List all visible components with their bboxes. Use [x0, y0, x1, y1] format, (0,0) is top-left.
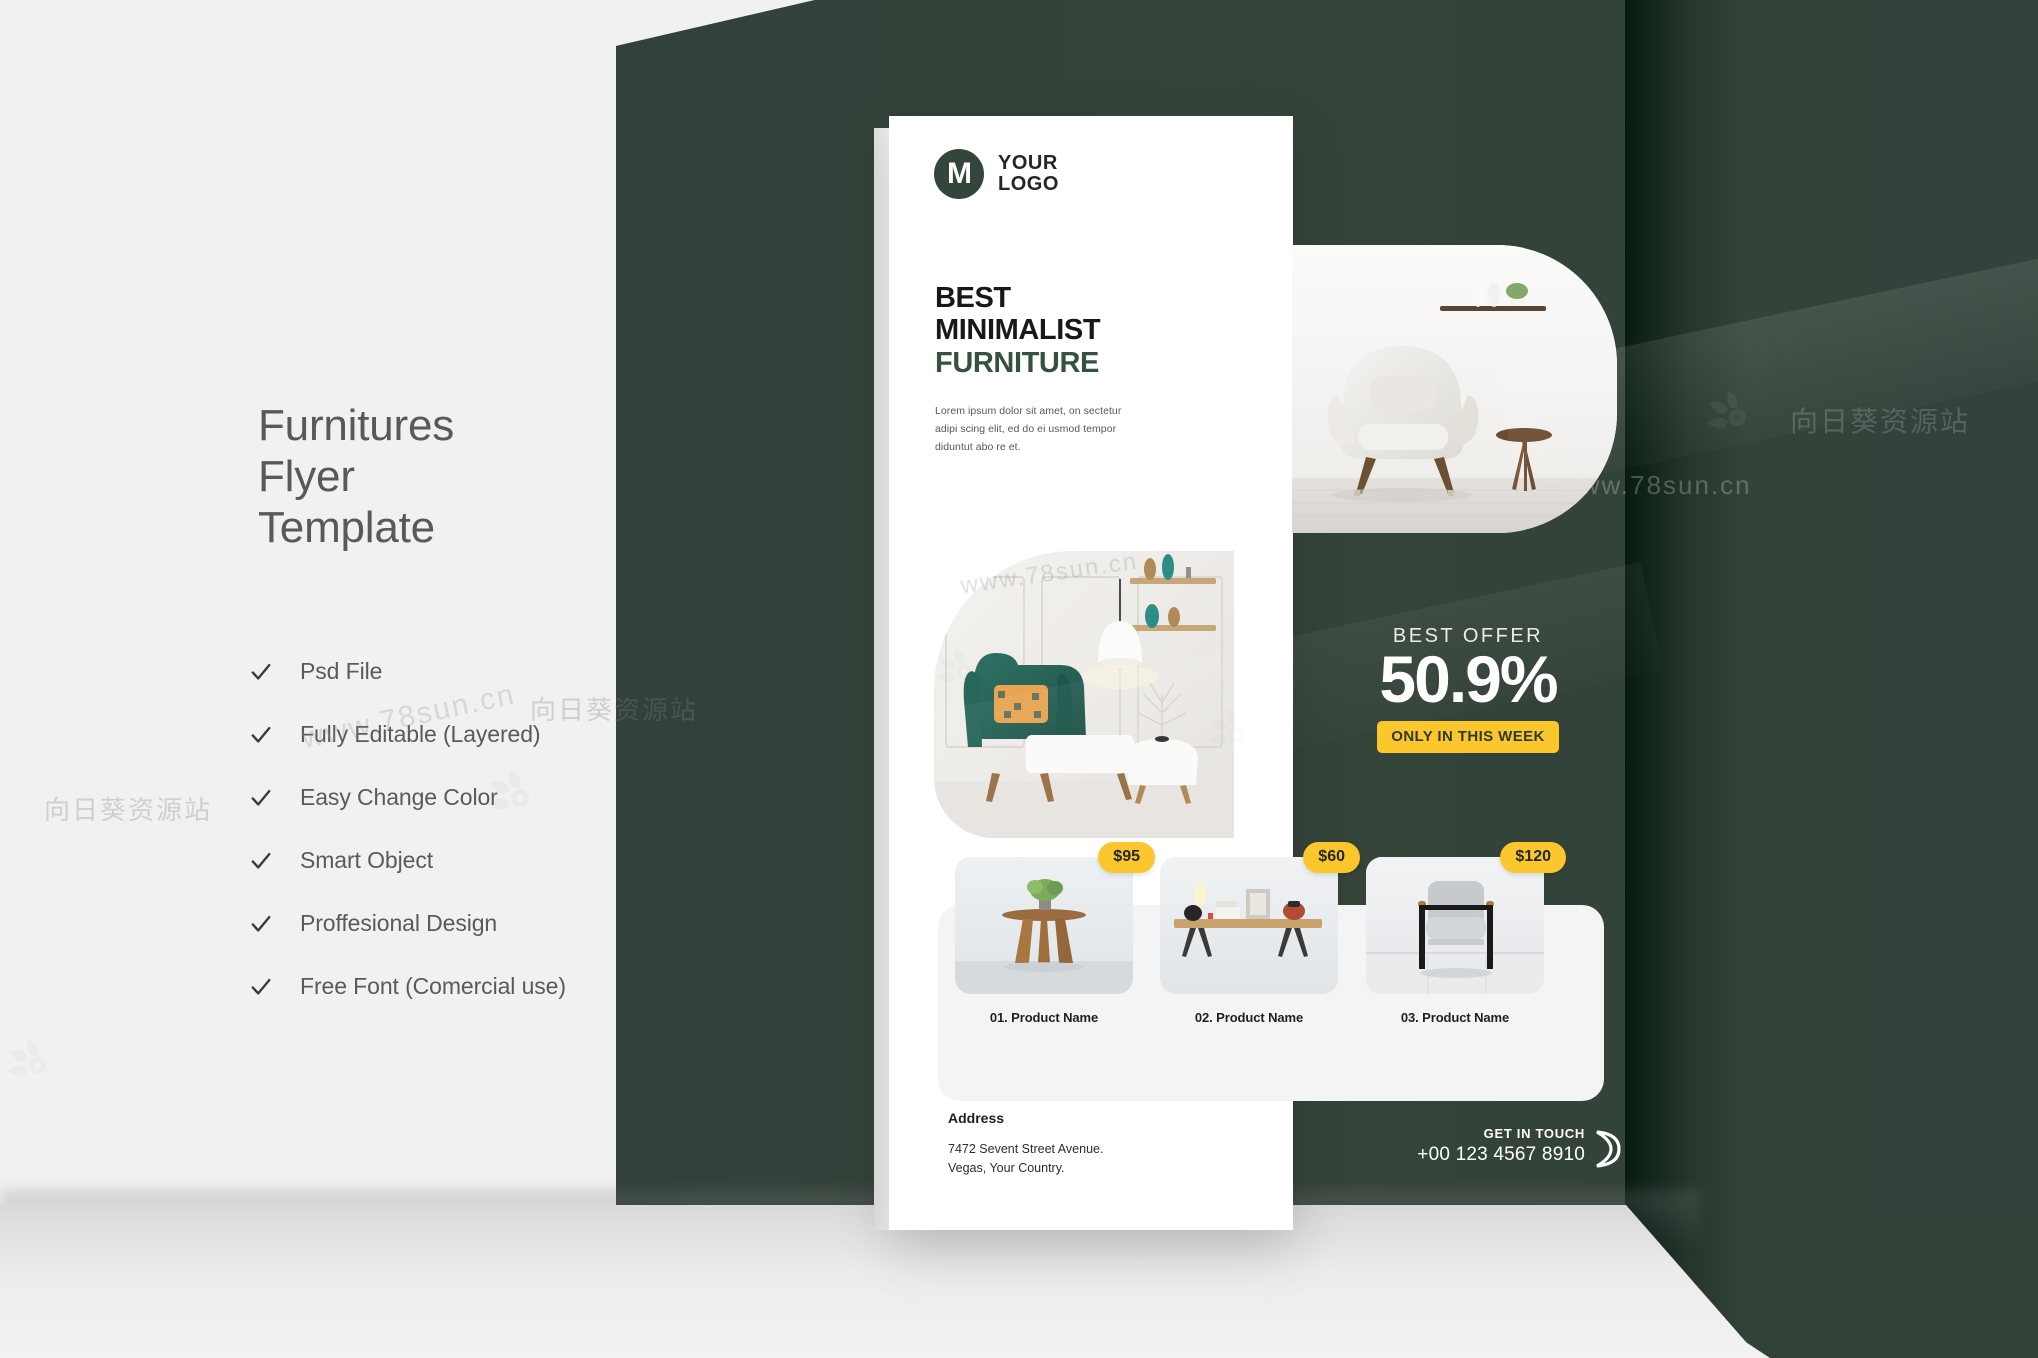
feature-label: Free Font (Comercial use): [300, 973, 566, 1000]
headline-line-1: BEST: [935, 282, 1165, 314]
product-thumbnail: [1366, 857, 1544, 994]
product-name: 01. Product Name: [955, 1010, 1133, 1025]
product-card[interactable]: $95 01. Product Name: [955, 857, 1133, 1025]
best-offer-block: BEST OFFER 50.9% ONLY IN THIS WEEK: [1353, 625, 1583, 753]
contact-phone[interactable]: +00 123 4567 8910: [1330, 1144, 1585, 1166]
feature-label: Easy Change Color: [300, 784, 498, 811]
check-icon: [250, 724, 272, 746]
phone-icon: [1589, 1129, 1625, 1169]
feature-list: Psd File Fully Editable (Layered) Easy C…: [250, 640, 770, 1018]
get-in-touch-label: GET IN TOUCH: [1330, 1126, 1585, 1141]
check-icon: [250, 661, 272, 683]
hero-image-white-armchair: [1292, 245, 1617, 533]
logo-line-1: YOUR: [998, 153, 1059, 174]
check-icon: [250, 850, 272, 872]
address-line-1: 7472 Sevent Street Avenue.: [948, 1140, 1103, 1159]
title-line-2: Flyer: [258, 451, 678, 502]
address-title: Address: [948, 1110, 1103, 1126]
product-card[interactable]: $60 02. Product Name: [1160, 857, 1338, 1025]
product-thumbnail: [955, 857, 1133, 994]
logo-line-2: LOGO: [998, 174, 1059, 195]
left-panel-title: Furnitures Flyer Template: [258, 400, 678, 553]
feature-label: Smart Object: [300, 847, 433, 874]
scene-background: Furnitures Flyer Template Psd File Fully…: [0, 0, 2038, 1358]
title-line-1: Furnitures: [258, 400, 678, 451]
address-block: Address 7472 Sevent Street Avenue. Vegas…: [948, 1110, 1103, 1178]
hero-image-green-chair: [934, 551, 1234, 838]
product-price-badge: $120: [1500, 842, 1566, 873]
address-line-2: Vegas, Your Country.: [948, 1159, 1103, 1178]
offer-badge[interactable]: ONLY IN THIS WEEK: [1377, 721, 1559, 753]
feature-label: Proffesional Design: [300, 910, 497, 937]
product-name: 03. Product Name: [1366, 1010, 1544, 1025]
feature-label: Fully Editable (Layered): [300, 721, 541, 748]
product-name: 02. Product Name: [1160, 1010, 1338, 1025]
product-price-badge: $60: [1303, 842, 1360, 873]
list-item: Fully Editable (Layered): [250, 703, 770, 766]
product-price-badge: $95: [1098, 842, 1155, 873]
flyer-paper-edge: [874, 128, 890, 1230]
logo-wordmark: YOUR LOGO: [998, 153, 1059, 195]
list-item: Proffesional Design: [250, 892, 770, 955]
feature-label: Psd File: [300, 658, 382, 685]
title-line-3: Template: [258, 502, 678, 553]
lede-paragraph: Lorem ipsum dolor sit amet, on sectetur …: [935, 402, 1135, 456]
list-item: Free Font (Comercial use): [250, 955, 770, 1018]
headline: BEST MINIMALIST FURNITURE: [935, 282, 1165, 379]
product-thumbnail: [1160, 857, 1338, 994]
check-icon: [250, 913, 272, 935]
sunflower-watermark-icon: [0, 1030, 60, 1090]
list-item: Smart Object: [250, 829, 770, 892]
watermark-text: 向日葵资源站: [44, 790, 212, 827]
list-item: Psd File: [250, 640, 770, 703]
headline-line-2: MINIMALIST: [935, 314, 1165, 346]
check-icon: [250, 787, 272, 809]
offer-percent: 50.9%: [1353, 646, 1583, 713]
product-card[interactable]: $120 03. Product Name: [1366, 857, 1544, 1025]
check-icon: [250, 976, 272, 998]
list-item: Easy Change Color: [250, 766, 770, 829]
headline-line-3: FURNITURE: [935, 347, 1165, 379]
logo: M YOUR LOGO: [934, 149, 1059, 199]
contact-block: GET IN TOUCH +00 123 4567 8910: [1330, 1126, 1585, 1166]
logo-mark-icon: M: [934, 149, 984, 199]
